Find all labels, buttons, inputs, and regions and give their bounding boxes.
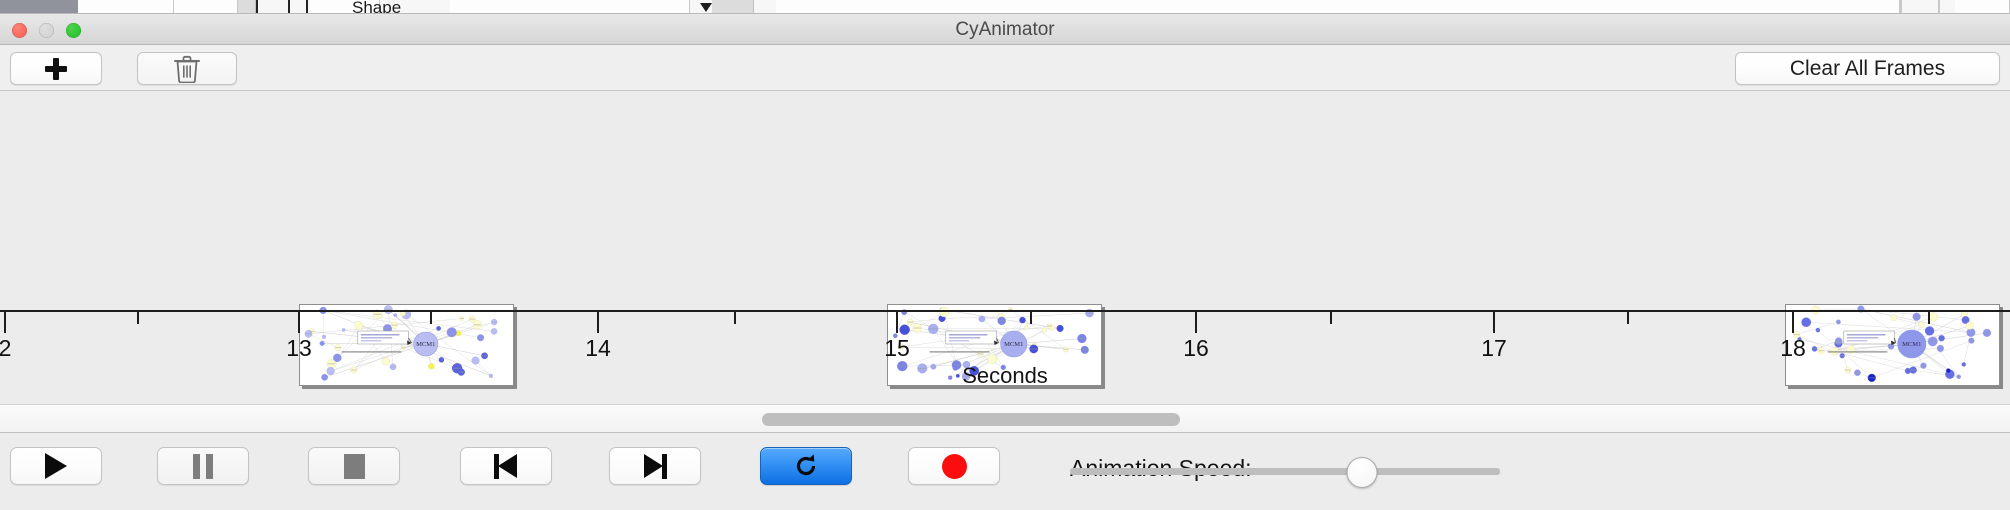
titlebar[interactable]: CyAnimator [0,14,2010,45]
trash-icon [174,55,200,83]
ruler-tick-major [1493,312,1495,333]
ruler-tick-major [298,312,300,333]
background-divider [1900,0,1902,13]
skip-previous-icon [494,454,518,479]
clear-all-frames-button[interactable]: Clear All Frames [1735,52,2000,85]
ruler-tick-minor [1928,312,1930,324]
background-divider [288,0,290,13]
record-button[interactable] [908,447,1000,485]
background-window-strip: Shape [0,0,2010,14]
ruler-tick-major [1792,312,1794,333]
ruler-tick-major [896,312,898,333]
ruler-baseline [0,310,2010,312]
frames-area[interactable]: MCM1 MCM1 MCM1 [0,92,2010,310]
background-cell [776,0,1900,13]
background-divider [256,0,258,13]
ruler-tick-major [1195,312,1197,333]
ruler-tick-minor [734,312,736,324]
timeline-ruler[interactable]: Seconds 2131415161718 [0,310,2010,404]
record-icon [942,454,967,479]
background-selected-cell [0,0,78,13]
loop-button[interactable] [760,447,852,485]
background-cell [450,0,690,13]
background-cell [174,0,238,13]
ruler-tick-minor [430,312,432,324]
stop-button[interactable] [308,447,400,485]
play-button[interactable] [10,447,102,485]
ruler-tick-minor [137,312,139,324]
pause-icon [193,454,213,479]
background-divider [306,0,308,13]
plus-icon [45,58,67,80]
delete-frame-button[interactable] [137,52,237,85]
ruler-tick-label: 2 [0,335,11,362]
background-cell [238,0,256,13]
background-cell [1955,0,2010,13]
background-divider [1938,0,1940,13]
background-cell [78,0,174,13]
play-icon [45,453,67,479]
player-controls-bar: Animation Speed: [0,432,2010,510]
ruler-tick-label: 16 [1183,335,1209,362]
add-frame-button[interactable] [10,52,102,85]
timeline-panel: MCM1 MCM1 MCM1 Seconds 2 [0,92,2010,404]
ruler-tick-label: 18 [1780,335,1806,362]
ruler-tick-label: 15 [884,335,910,362]
next-frame-button[interactable] [609,447,701,485]
ruler-tick-minor [1627,312,1629,324]
window-title: CyAnimator [0,14,2010,45]
animation-speed-slider[interactable] [1070,463,1500,483]
clear-all-frames-label: Clear All Frames [1790,57,1945,81]
slider-thumb[interactable] [1347,457,1378,488]
loop-icon [791,451,821,481]
ruler-tick-minor [1330,312,1332,324]
background-caret-icon [700,3,712,12]
pause-button[interactable] [157,447,249,485]
slider-track[interactable] [1070,468,1500,475]
timeline-axis-title: Seconds [0,363,2010,389]
scrollbar-thumb[interactable] [762,413,1180,426]
ruler-tick-label: 14 [585,335,611,362]
timeline-horizontal-scrollbar[interactable] [0,404,2010,432]
ruler-tick-major [597,312,599,333]
ruler-tick-label: 13 [286,335,312,362]
ruler-tick-minor [1030,312,1032,324]
skip-next-icon [643,454,667,479]
toolbar: Clear All Frames [0,45,2010,91]
previous-frame-button[interactable] [460,447,552,485]
background-window-label: Shape [352,0,401,14]
ruler-tick-label: 17 [1481,335,1507,362]
background-cell [712,0,754,13]
stop-icon [344,454,365,479]
cyanimator-window: Shape CyAnimator Clear [0,0,2010,510]
ruler-tick-major [4,312,6,333]
